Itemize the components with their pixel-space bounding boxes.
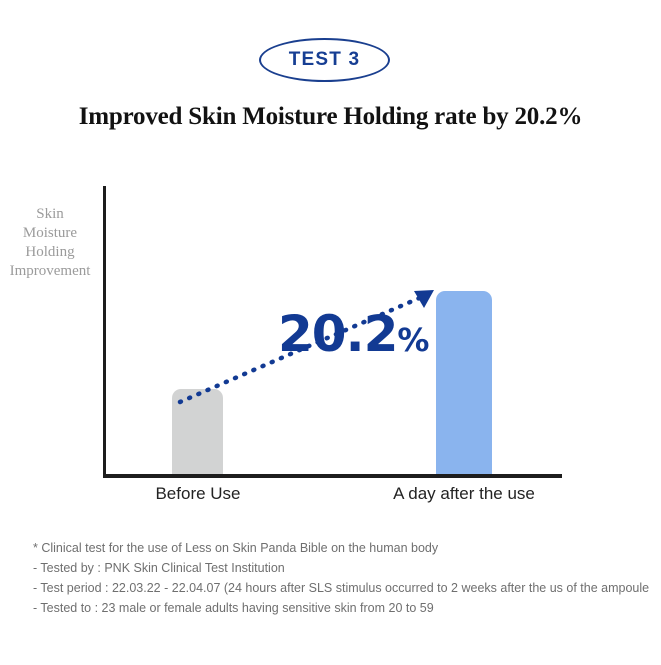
footnote-line-4: - Tested to : 23 male or female adults h… (33, 598, 653, 618)
bar-before-use (172, 389, 223, 474)
x-axis-line (103, 474, 562, 478)
footnote-line-2: - Tested by : PNK Skin Clinical Test Ins… (33, 558, 653, 578)
y-axis-title: Skin Moisture Holding Improvement (0, 205, 100, 281)
y-axis-title-line-1: Skin (0, 205, 100, 224)
y-axis-title-line-3: Holding (0, 243, 100, 262)
bar-a-day-after-the-use (436, 291, 492, 474)
x-tick-label-before-use: Before Use (118, 484, 278, 504)
y-axis-title-line-2: Moisture (0, 224, 100, 243)
x-tick-label-a-day-after-the-use: A day after the use (384, 484, 544, 504)
y-axis-line (103, 186, 106, 477)
improvement-callout-number: 20.2 (278, 305, 397, 363)
improvement-callout-unit: % (397, 321, 428, 359)
y-axis-title-line-4: Improvement (0, 262, 100, 281)
improvement-callout: 20.2% (278, 305, 428, 363)
footnote-line-1: * Clinical test for the use of Less on S… (33, 538, 653, 558)
footnote-line-3: - Test period : 22.03.22 - 22.04.07 (24 … (33, 578, 653, 598)
footnotes: * Clinical test for the use of Less on S… (33, 538, 653, 618)
